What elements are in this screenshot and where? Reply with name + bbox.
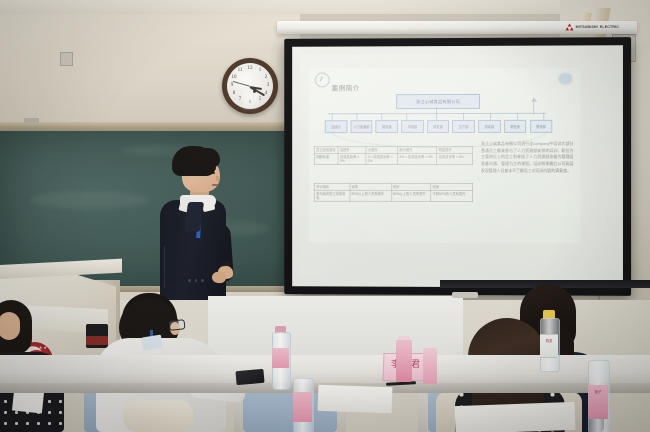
snack-bag[interactable]	[123, 400, 193, 432]
chalkboard-eraser	[24, 118, 39, 124]
smartphone[interactable]	[235, 369, 264, 385]
org-dept-label: 物流部	[536, 124, 546, 129]
wall-clock: 12 1 2 3 4 5 6 7 8 9 10 11	[222, 58, 278, 114]
presentation-slide: 案例简介 浙江心诚食品有限公司 总经办 人力资	[309, 68, 581, 244]
table-cell: 85%以上的人员有提升	[350, 191, 391, 202]
table-cell: 不到50%的人员有提升	[431, 191, 473, 202]
brand-name: MITSUBISHI	[576, 25, 598, 29]
org-chart-root-box: 浙江心诚食品有限公司	[396, 94, 480, 109]
table-row: 参与培训员工绩效变化 85%以上的人员有提升 50%以上的人员有提升 不到50%…	[314, 190, 472, 201]
table-header-cell: 较差	[431, 183, 473, 190]
table-header-cell: 良好	[391, 183, 431, 190]
clock-glass-glare	[243, 93, 259, 109]
table-row-label: 参与培训员工绩效变化	[314, 190, 349, 201]
org-dept-label: 人力资源部	[353, 124, 369, 129]
clock-numeral: 12	[246, 65, 254, 73]
paper-stack	[455, 402, 576, 432]
org-dept-label: 市场部	[408, 124, 418, 129]
wall-socket	[60, 52, 73, 66]
cuff-button	[201, 279, 204, 282]
presenter-cuff-buttons	[188, 279, 210, 282]
org-dept-label: 生产部	[459, 124, 469, 129]
slide-body-paragraph: 浙江心诚食品有限公司进行全company中培训大部分营通员工都来参与了人力资源部…	[481, 141, 573, 175]
table-header-cell: 明显提升	[437, 146, 473, 153]
table-cell: 绩效变化率 > 5%	[437, 154, 473, 165]
org-connector-horizontal	[328, 113, 547, 114]
brand-model: ELECTRIC	[600, 25, 619, 29]
mitsubishi-branding: MITSUBISHI ELECTRIC	[565, 23, 619, 31]
clock-numeral: 3	[264, 82, 272, 90]
table-row: 判断标准 绩效变化率 < 0% 0 < 绩效变化率 < 2% 2% < 绩效变化…	[314, 154, 472, 165]
table-header-cell: 没提升	[338, 147, 366, 154]
circle-decoration-icon	[558, 73, 572, 85]
org-tick	[543, 113, 544, 120]
clock-numeral: 9	[228, 82, 236, 90]
clock-decoration-icon	[315, 72, 330, 87]
mitsubishi-diamond-icon	[565, 23, 574, 31]
audience-member-left-face	[0, 312, 20, 340]
clock-face: 12 1 2 3 4 5 6 7 8 9 10 11	[227, 63, 273, 109]
table-cell: 绩效变化率 < 0%	[338, 154, 366, 165]
slide-title: 案例简介	[332, 82, 360, 92]
org-tick	[381, 113, 382, 120]
org-dept-label: 总经办	[331, 124, 340, 129]
clock-numeral: 8	[230, 90, 238, 98]
org-dept-label: 财务部	[382, 124, 392, 129]
org-tick	[436, 113, 437, 120]
projector-screen-casing: MITSUBISHI ELECTRIC	[277, 21, 637, 34]
table-header-cell: 大提升	[366, 147, 398, 154]
table-row: 员工绩效变化 没提升 大提升 部分提升 明显提升	[314, 146, 472, 153]
juice-carton[interactable]	[396, 340, 412, 382]
cuff-button	[188, 279, 191, 282]
table-header-cell: 评价指标	[314, 183, 349, 190]
rating-criteria-table: 评价指标 优秀 良好 较差 参与培训员工绩效变化 85%以上的人员有提升 50%…	[314, 183, 473, 202]
chalkboard-top-rail	[0, 122, 302, 131]
org-root-label: 浙江心诚食品有限公司	[416, 98, 460, 104]
classroom-presentation-photo: 12 1 2 3 4 5 6 7 8 9 10 11	[0, 0, 650, 432]
table-cell: 2% < 绩效变化率 < 5%	[398, 154, 437, 165]
bottle-label-text: 桃子	[589, 390, 607, 394]
table-cell: 50%以上的人员有提升	[391, 191, 431, 202]
presenter-nose	[216, 176, 220, 181]
presenter-mouth	[212, 184, 218, 186]
org-tick	[332, 113, 333, 120]
podium-red-object	[86, 336, 108, 345]
clock-numeral: 11	[236, 67, 244, 75]
bottle-label-text: 燕麦	[541, 338, 557, 343]
table-cell: 0 < 绩效变化率 < 2%	[366, 154, 398, 165]
juice-carton[interactable]	[423, 348, 437, 384]
org-tick	[490, 113, 491, 120]
org-dept-label: 销售部	[510, 124, 520, 129]
eyeglasses-icon	[169, 319, 186, 331]
bottle-label	[272, 348, 289, 368]
cuff-button	[195, 279, 198, 282]
table-header-cell: 员工绩效变化	[314, 147, 338, 154]
ceiling-strip	[0, 0, 650, 14]
table-row-label: 判断标准	[314, 154, 338, 165]
org-tick	[406, 113, 407, 120]
org-dept-label: 质量部	[485, 124, 495, 129]
table-header-cell: 优秀	[350, 183, 391, 190]
presenter-hair-side	[194, 148, 220, 168]
clock-numeral: 2	[262, 74, 270, 82]
org-dept-label: 研发部	[433, 124, 443, 129]
table-header-cell: 部分提升	[398, 147, 437, 154]
whiteboard-bracket	[452, 292, 478, 298]
org-tick	[517, 113, 518, 120]
presenter-jacket-seam	[164, 246, 165, 288]
paper-stack	[318, 385, 393, 414]
screen-surface: 案例简介 浙江心诚食品有限公司 总经办 人力资	[292, 45, 623, 288]
projection-screen: 案例简介 浙江心诚食品有限公司 总经办 人力资	[284, 37, 631, 296]
performance-change-table: 员工绩效变化 没提升 大提升 部分提升 明显提升 判断标准 绩效变化率 < 0%…	[314, 146, 473, 165]
org-tick	[463, 113, 464, 120]
bottle-label	[293, 392, 312, 422]
org-tick	[356, 113, 357, 120]
